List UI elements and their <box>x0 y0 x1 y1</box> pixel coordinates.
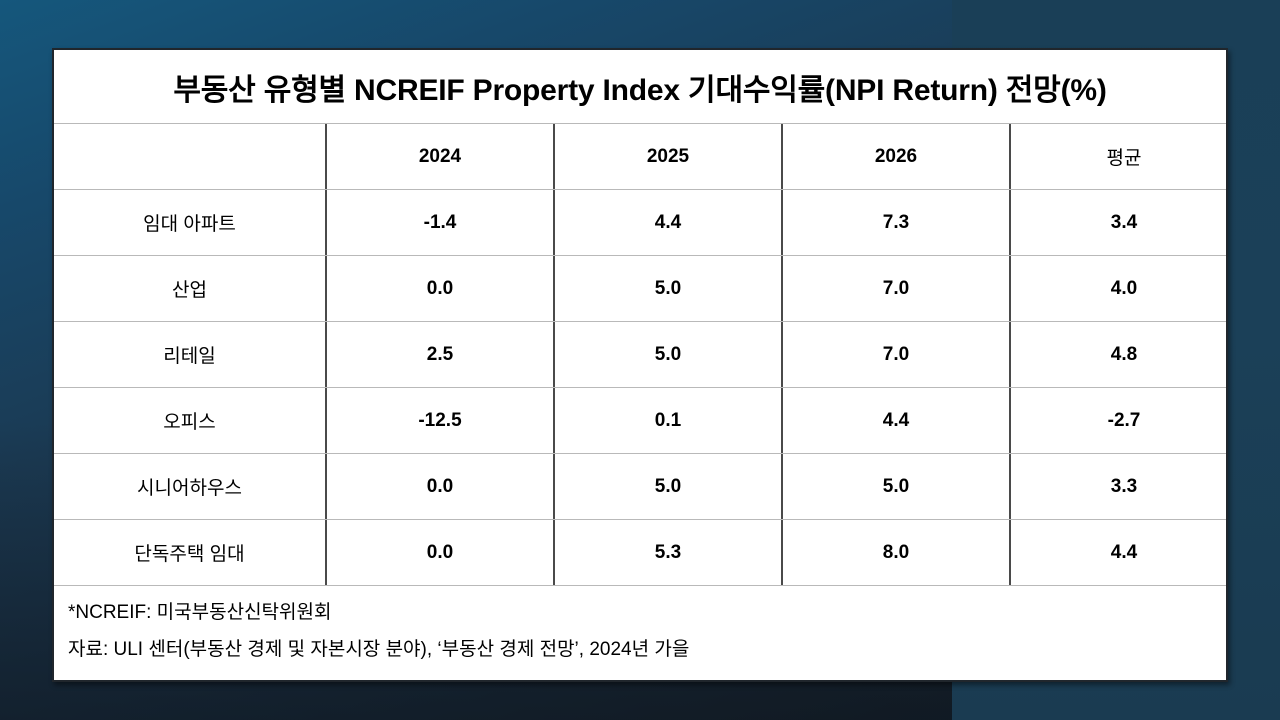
footnote-source: 자료: ULI 센터(부동산 경제 및 자본시장 분야), ‘부동산 경제 전망… <box>68 631 1226 668</box>
table-row: 산업 0.0 5.0 7.0 4.0 <box>54 256 1226 322</box>
slide-canvas: 부동산 유형별 NCREIF Property Index 기대수익률(NPI … <box>0 0 1280 720</box>
header-cell-2025: 2025 <box>553 124 781 189</box>
cell-2025: 5.3 <box>553 520 781 585</box>
cell-2026: 8.0 <box>781 520 1009 585</box>
cell-average: 3.4 <box>1009 190 1237 255</box>
cell-2024: 0.0 <box>325 454 553 519</box>
cell-2024: 0.0 <box>325 520 553 585</box>
cell-2025: 4.4 <box>553 190 781 255</box>
data-table-card: 부동산 유형별 NCREIF Property Index 기대수익률(NPI … <box>52 48 1228 682</box>
cell-2026: 5.0 <box>781 454 1009 519</box>
row-label: 시니어하우스 <box>54 454 325 519</box>
table-row: 시니어하우스 0.0 5.0 5.0 3.3 <box>54 454 1226 520</box>
cell-average: 4.4 <box>1009 520 1237 585</box>
footnote-ncreif: *NCREIF: 미국부동산신탁위원회 <box>68 594 1226 631</box>
table-row: 오피스 -12.5 0.1 4.4 -2.7 <box>54 388 1226 454</box>
cell-2024: 0.0 <box>325 256 553 321</box>
table-row: 임대 아파트 -1.4 4.4 7.3 3.4 <box>54 190 1226 256</box>
row-label: 단독주택 임대 <box>54 520 325 585</box>
cell-2025: 5.0 <box>553 256 781 321</box>
row-label: 오피스 <box>54 388 325 453</box>
cell-2025: 5.0 <box>553 322 781 387</box>
header-cell-blank <box>54 124 325 189</box>
row-label: 임대 아파트 <box>54 190 325 255</box>
cell-2025: 0.1 <box>553 388 781 453</box>
table-row: 단독주택 임대 0.0 5.3 8.0 4.4 <box>54 520 1226 586</box>
header-cell-2024: 2024 <box>325 124 553 189</box>
cell-2024: -12.5 <box>325 388 553 453</box>
table-footnotes: *NCREIF: 미국부동산신탁위원회 자료: ULI 센터(부동산 경제 및 … <box>54 586 1226 680</box>
table-row: 리테일 2.5 5.0 7.0 4.8 <box>54 322 1226 388</box>
header-cell-average: 평균 <box>1009 124 1237 189</box>
cell-2024: -1.4 <box>325 190 553 255</box>
table-header-row: 2024 2025 2026 평균 <box>54 124 1226 190</box>
header-cell-2026: 2026 <box>781 124 1009 189</box>
cell-2026: 7.0 <box>781 256 1009 321</box>
cell-average: -2.7 <box>1009 388 1237 453</box>
cell-2024: 2.5 <box>325 322 553 387</box>
cell-2026: 7.0 <box>781 322 1009 387</box>
table-grid: 2024 2025 2026 평균 임대 아파트 -1.4 4.4 7.3 3.… <box>54 124 1226 680</box>
cell-average: 3.3 <box>1009 454 1237 519</box>
row-label: 산업 <box>54 256 325 321</box>
cell-average: 4.0 <box>1009 256 1237 321</box>
cell-average: 4.8 <box>1009 322 1237 387</box>
cell-2026: 7.3 <box>781 190 1009 255</box>
cell-2026: 4.4 <box>781 388 1009 453</box>
row-label: 리테일 <box>54 322 325 387</box>
page-title: 부동산 유형별 NCREIF Property Index 기대수익률(NPI … <box>173 65 1106 109</box>
table-title-row: 부동산 유형별 NCREIF Property Index 기대수익률(NPI … <box>54 50 1226 124</box>
cell-2025: 5.0 <box>553 454 781 519</box>
